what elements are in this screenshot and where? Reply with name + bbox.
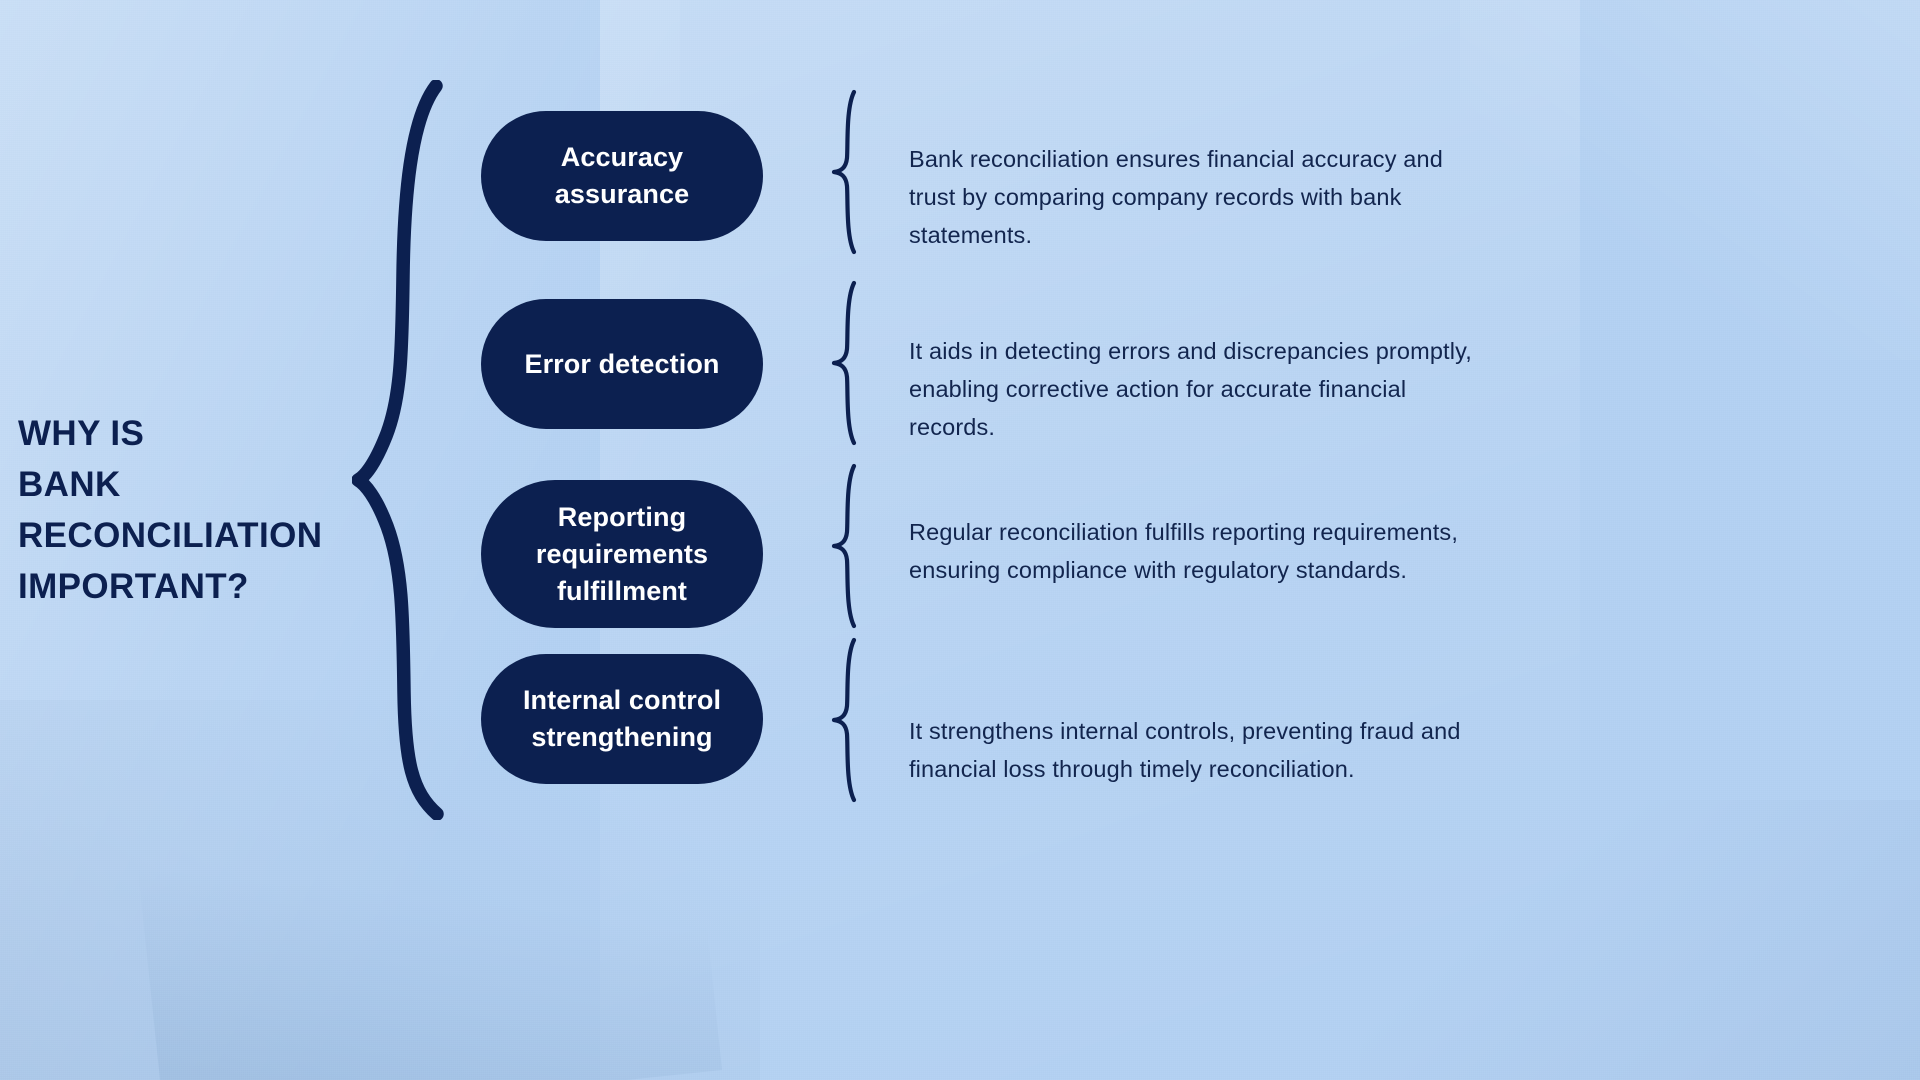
- item-description-2: It aids in detecting errors and discrepa…: [909, 332, 1489, 446]
- item-pill-3-label-line-2: requirements: [536, 536, 708, 573]
- infographic-canvas: WHY IS BANK RECONCILIATION IMPORTANT? Ac…: [0, 0, 1920, 1080]
- background-wash-top-right: [1460, 0, 1920, 360]
- page-title-line-4: IMPORTANT?: [18, 561, 378, 612]
- item-pill-4[interactable]: Internal control strengthening: [481, 654, 763, 784]
- item-pill-4-label-line-1: Internal control: [523, 682, 721, 719]
- small-curly-brace-icon-4: [828, 636, 862, 804]
- item-pill-2-label-line-1: Error detection: [524, 346, 719, 383]
- background-wash-bottom-right: [1360, 800, 1920, 1080]
- item-pill-3-label-line-3: fulfillment: [536, 573, 708, 610]
- item-pill-1-label-line-2: assurance: [555, 176, 690, 213]
- item-description-4: It strengthens internal controls, preven…: [909, 712, 1489, 788]
- item-description-1: Bank reconciliation ensures financial ac…: [909, 140, 1489, 254]
- small-curly-brace-icon-1: [828, 88, 862, 256]
- page-title-line-3: RECONCILIATION: [18, 510, 378, 561]
- item-pill-3-label: Reporting requirements fulfillment: [536, 499, 708, 610]
- item-pill-1[interactable]: Accuracy assurance: [481, 111, 763, 241]
- page-title-line-1: WHY IS: [18, 408, 378, 459]
- page-title-line-2: BANK: [18, 459, 378, 510]
- large-curly-brace-icon: [352, 80, 462, 820]
- item-pill-2[interactable]: Error detection: [481, 299, 763, 429]
- item-pill-1-label-line-1: Accuracy: [555, 139, 690, 176]
- background-wash-bottom: [138, 811, 722, 1080]
- item-pill-4-label-line-2: strengthening: [523, 719, 721, 756]
- page-title: WHY IS BANK RECONCILIATION IMPORTANT?: [18, 408, 378, 612]
- item-pill-2-label: Error detection: [524, 346, 719, 383]
- item-pill-3-label-line-1: Reporting: [536, 499, 708, 536]
- small-curly-brace-icon-2: [828, 279, 862, 447]
- small-curly-brace-icon-3: [828, 462, 862, 630]
- item-pill-4-label: Internal control strengthening: [523, 682, 721, 756]
- item-pill-3[interactable]: Reporting requirements fulfillment: [481, 480, 763, 628]
- item-description-3: Regular reconciliation fulfills reportin…: [909, 513, 1489, 589]
- item-pill-1-label: Accuracy assurance: [555, 139, 690, 213]
